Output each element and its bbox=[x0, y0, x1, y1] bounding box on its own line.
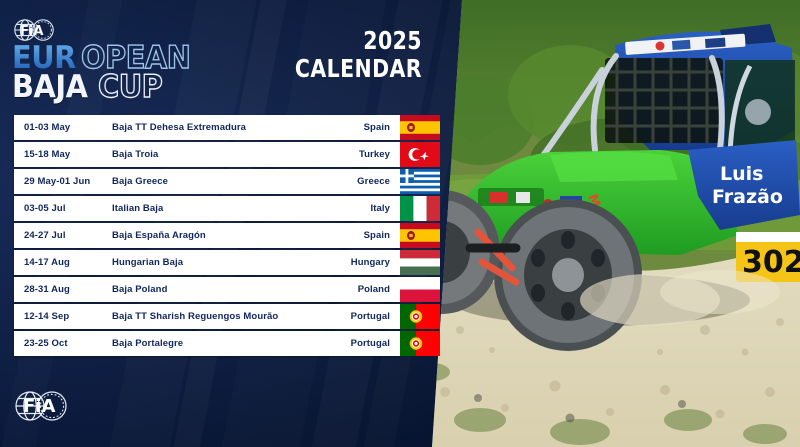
poster-root: MAXXIS Luis Frazão 302 bbox=[0, 0, 800, 447]
event-country: Portugal bbox=[345, 338, 390, 349]
calendar-table: 01-03 May Baja TT Dehesa Extremadura Spa… bbox=[14, 115, 444, 358]
country-flag-icon bbox=[400, 115, 440, 140]
table-row[interactable]: 14-17 Aug Hungarian Baja Hungary bbox=[14, 250, 444, 275]
hero-photo-illustration: MAXXIS Luis Frazão 302 bbox=[420, 0, 800, 447]
driver-name-line1: Luis bbox=[720, 163, 763, 185]
event-dates: 23-25 Oct bbox=[24, 338, 112, 349]
event-name: Baja Portalegre bbox=[112, 338, 345, 349]
fia-badge-icon: FiA bbox=[12, 18, 56, 42]
event-dates: 28-31 Aug bbox=[24, 284, 112, 295]
event-country: Spain bbox=[358, 230, 390, 241]
fia-logo-text: FiA bbox=[23, 396, 55, 417]
event-name: Baja Poland bbox=[112, 284, 352, 295]
table-row[interactable]: 01-03 May Baja TT Dehesa Extremadura Spa… bbox=[14, 115, 444, 140]
event-name: Baja España Aragón bbox=[112, 230, 358, 241]
event-dates: 24-27 Jul bbox=[24, 230, 112, 241]
event-name: Baja TT Dehesa Extremadura bbox=[112, 122, 358, 133]
wordmark-cup: CUP bbox=[98, 73, 162, 102]
table-row[interactable]: 15-18 May Baja Troia Turkey bbox=[14, 142, 444, 167]
event-name: Baja Greece bbox=[112, 176, 351, 187]
row-body[interactable]: 03-05 Jul Italian Baja Italy bbox=[14, 196, 400, 221]
front-wheel bbox=[494, 199, 642, 351]
row-body[interactable]: 28-31 Aug Baja Poland Poland bbox=[14, 277, 400, 302]
table-row[interactable]: 12-14 Sep Baja TT Sharish Reguengos Mour… bbox=[14, 304, 444, 329]
event-country: Spain bbox=[358, 122, 390, 133]
row-body[interactable]: 23-25 Oct Baja Portalegre Portugal bbox=[14, 331, 400, 356]
country-flag-icon bbox=[400, 331, 440, 356]
calendar-title: 2025 CALENDAR bbox=[267, 28, 422, 81]
row-body[interactable]: 29 May-01 Jun Baja Greece Greece bbox=[14, 169, 400, 194]
event-name: Baja Troia bbox=[112, 149, 353, 160]
table-row[interactable]: 29 May-01 Jun Baja Greece Greece bbox=[14, 169, 444, 194]
row-body[interactable]: 15-18 May Baja Troia Turkey bbox=[14, 142, 400, 167]
table-row[interactable]: 28-31 Aug Baja Poland Poland bbox=[14, 277, 444, 302]
row-body[interactable]: 14-17 Aug Hungarian Baja Hungary bbox=[14, 250, 400, 275]
country-flag-icon bbox=[400, 196, 440, 221]
event-dates: 03-05 Jul bbox=[24, 203, 112, 214]
row-body[interactable]: 12-14 Sep Baja TT Sharish Reguengos Mour… bbox=[14, 304, 400, 329]
wordmark: EUR OPEAN BAJA CUP bbox=[12, 44, 198, 101]
event-dates: 29 May-01 Jun bbox=[24, 176, 112, 187]
table-row[interactable]: 03-05 Jul Italian Baja Italy bbox=[14, 196, 444, 221]
event-dates: 15-18 May bbox=[24, 149, 112, 160]
event-name: Hungarian Baja bbox=[112, 257, 345, 268]
calendar-word: CALENDAR bbox=[295, 56, 422, 81]
svg-text:FiA: FiA bbox=[20, 24, 43, 39]
event-country: Italy bbox=[364, 203, 390, 214]
event-dates: 14-17 Aug bbox=[24, 257, 112, 268]
event-dates: 01-03 May bbox=[24, 122, 112, 133]
country-flag-icon bbox=[400, 223, 440, 248]
country-flag-icon bbox=[400, 142, 440, 167]
header: FiA EUR OPEAN BAJA CUP 2025 CALENDAR bbox=[0, 0, 470, 108]
event-country: Hungary bbox=[345, 257, 390, 268]
driver-name-line2: Frazão bbox=[712, 186, 783, 208]
wordmark-baja: BAJA bbox=[12, 73, 87, 102]
event-country: Turkey bbox=[353, 149, 390, 160]
calendar-year: 2025 bbox=[295, 28, 422, 53]
event-country: Portugal bbox=[345, 311, 390, 322]
event-name: Italian Baja bbox=[112, 203, 364, 214]
country-flag-icon bbox=[400, 277, 440, 302]
row-body[interactable]: 24-27 Jul Baja España Aragón Spain bbox=[14, 223, 400, 248]
country-flag-icon bbox=[400, 304, 440, 329]
fia-logo-footer: FiA bbox=[14, 389, 68, 423]
hero-photo: MAXXIS Luis Frazão 302 bbox=[420, 0, 800, 447]
event-country: Greece bbox=[351, 176, 390, 187]
row-body[interactable]: 01-03 May Baja TT Dehesa Extremadura Spa… bbox=[14, 115, 400, 140]
european-baja-cup-logo: FiA EUR OPEAN BAJA CUP bbox=[12, 18, 198, 101]
event-name: Baja TT Sharish Reguengos Mourão bbox=[112, 311, 345, 322]
country-flag-icon bbox=[400, 169, 440, 194]
table-row[interactable]: 24-27 Jul Baja España Aragón Spain bbox=[14, 223, 444, 248]
table-row[interactable]: 23-25 Oct Baja Portalegre Portugal bbox=[14, 331, 444, 356]
event-dates: 12-14 Sep bbox=[24, 311, 112, 322]
country-flag-icon bbox=[400, 250, 440, 275]
event-country: Poland bbox=[352, 284, 390, 295]
